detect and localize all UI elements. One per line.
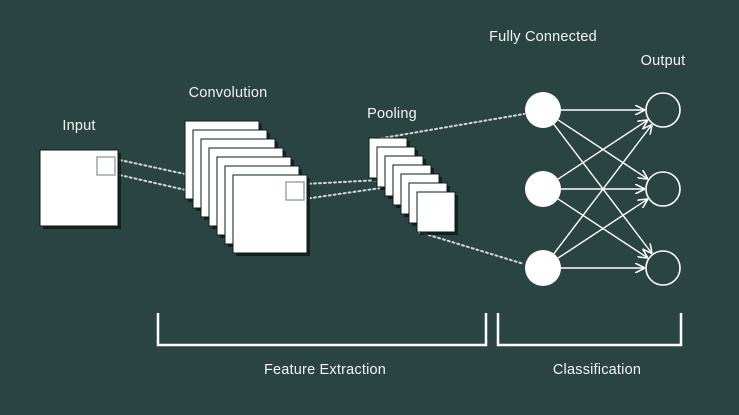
diagram-canvas bbox=[0, 0, 739, 415]
fc-node-1 bbox=[525, 92, 561, 128]
label-fully-connected: Fully Connected bbox=[483, 28, 603, 47]
stage-pooling bbox=[369, 138, 458, 235]
stage-output bbox=[646, 93, 680, 285]
convolution-sheet bbox=[233, 175, 307, 253]
label-classification: Classification bbox=[553, 361, 641, 380]
bracket-feature-extraction bbox=[158, 313, 486, 345]
connector-conv-pool-1 bbox=[304, 180, 381, 184]
fc-output-edges bbox=[554, 110, 652, 268]
input-square bbox=[40, 150, 118, 226]
fc-node-3 bbox=[525, 250, 561, 286]
output-node-2 bbox=[646, 172, 680, 206]
stage-fully-connected bbox=[525, 92, 561, 286]
pooling-sheet bbox=[417, 192, 455, 232]
fc-node-2 bbox=[525, 171, 561, 207]
bracket-classification bbox=[498, 313, 681, 345]
label-feature-extraction: Feature Extraction bbox=[264, 361, 386, 380]
output-node-1 bbox=[646, 93, 680, 127]
connector-pool-fc-bottom bbox=[419, 232, 524, 264]
label-input: Input bbox=[62, 117, 95, 136]
connector-group bbox=[115, 114, 524, 264]
label-pooling: Pooling bbox=[367, 105, 417, 124]
label-convolution: Convolution bbox=[189, 84, 268, 103]
label-output: Output bbox=[641, 52, 686, 71]
stage-input bbox=[40, 150, 121, 229]
stage-convolution bbox=[185, 121, 310, 256]
cnn-architecture-diagram: Input Convolution Pooling Fully Connecte… bbox=[0, 0, 739, 415]
bracket-group bbox=[158, 313, 681, 345]
connector-conv-pool-2 bbox=[304, 188, 381, 199]
output-node-3 bbox=[646, 251, 680, 285]
